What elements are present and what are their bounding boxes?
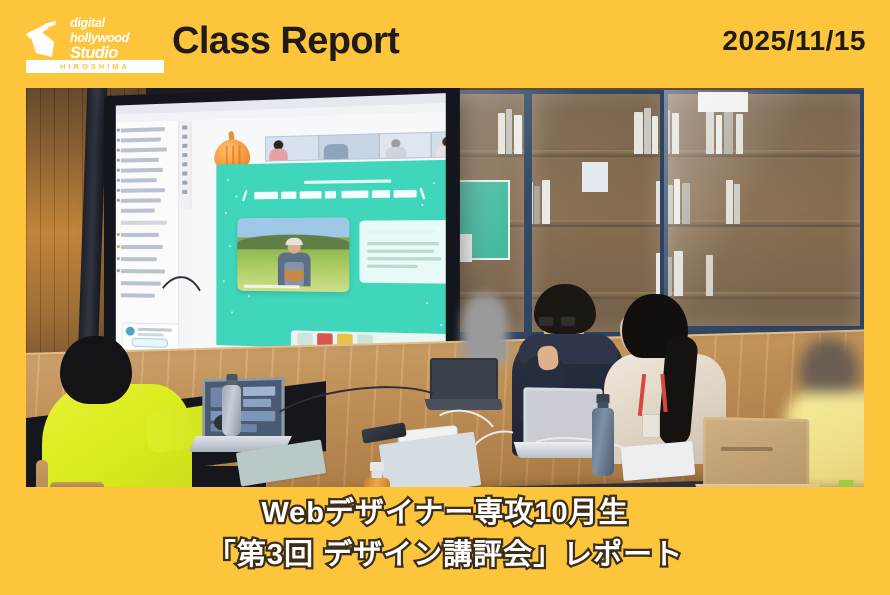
mockup-farmer-photo (237, 217, 349, 292)
page-title: Class Report (172, 21, 399, 63)
notebook-woman (621, 441, 696, 481)
school-logo: digital hollywood Studio HIROSHIMA (22, 16, 167, 74)
report-date: 2025/11/15 (722, 26, 866, 57)
caption-line-1: Webデザイナー専攻10月生 (0, 492, 890, 534)
person-woman-id-badge (642, 414, 660, 438)
call-participant-3 (380, 133, 432, 158)
design-mockup (216, 160, 445, 352)
laptop-right-gold (698, 418, 814, 487)
report-caption: Webデザイナー専攻10月生 「第3回 デザイン講評会」レポート (0, 492, 890, 576)
mockup-text-card (359, 220, 445, 284)
chair-left (36, 460, 108, 487)
white-notice-4 (582, 162, 608, 192)
water-bottle-blue (592, 394, 614, 476)
person-left-head (60, 336, 132, 404)
app-toolbar (179, 121, 191, 209)
call-participant-4 (432, 131, 446, 156)
class-report-banner: digital hollywood Studio HIROSHIMA Class… (0, 0, 890, 595)
logo-city-label: HIROSHIMA (60, 63, 130, 71)
water-bottle-right (832, 480, 860, 487)
caption-line-2: 「第3回 デザイン講評会」レポート (0, 534, 890, 576)
header: digital hollywood Studio HIROSHIMA Class… (0, 0, 890, 88)
call-participant-1 (266, 136, 320, 160)
video-call-participants (265, 130, 446, 161)
logo-word-hollywood: hollywood (70, 32, 167, 45)
glass-cabinet-door-3 (664, 90, 864, 330)
app-canvas (191, 112, 445, 369)
logo-wordmark: digital hollywood Studio (70, 16, 167, 58)
logo-city-bar: HIROSHIMA (26, 60, 164, 73)
photo-scene (26, 88, 864, 487)
tea-bottle (364, 462, 390, 487)
water-bottle-gray (222, 374, 241, 436)
logo-mark-icon (22, 20, 68, 60)
background-person (462, 294, 508, 364)
person-man-hand (537, 345, 559, 371)
person-man-glasses (538, 316, 578, 327)
class-photo (26, 88, 864, 487)
white-notice-3 (698, 92, 748, 112)
call-participant-2 (320, 134, 380, 159)
logo-word-digital: digital (70, 17, 167, 30)
